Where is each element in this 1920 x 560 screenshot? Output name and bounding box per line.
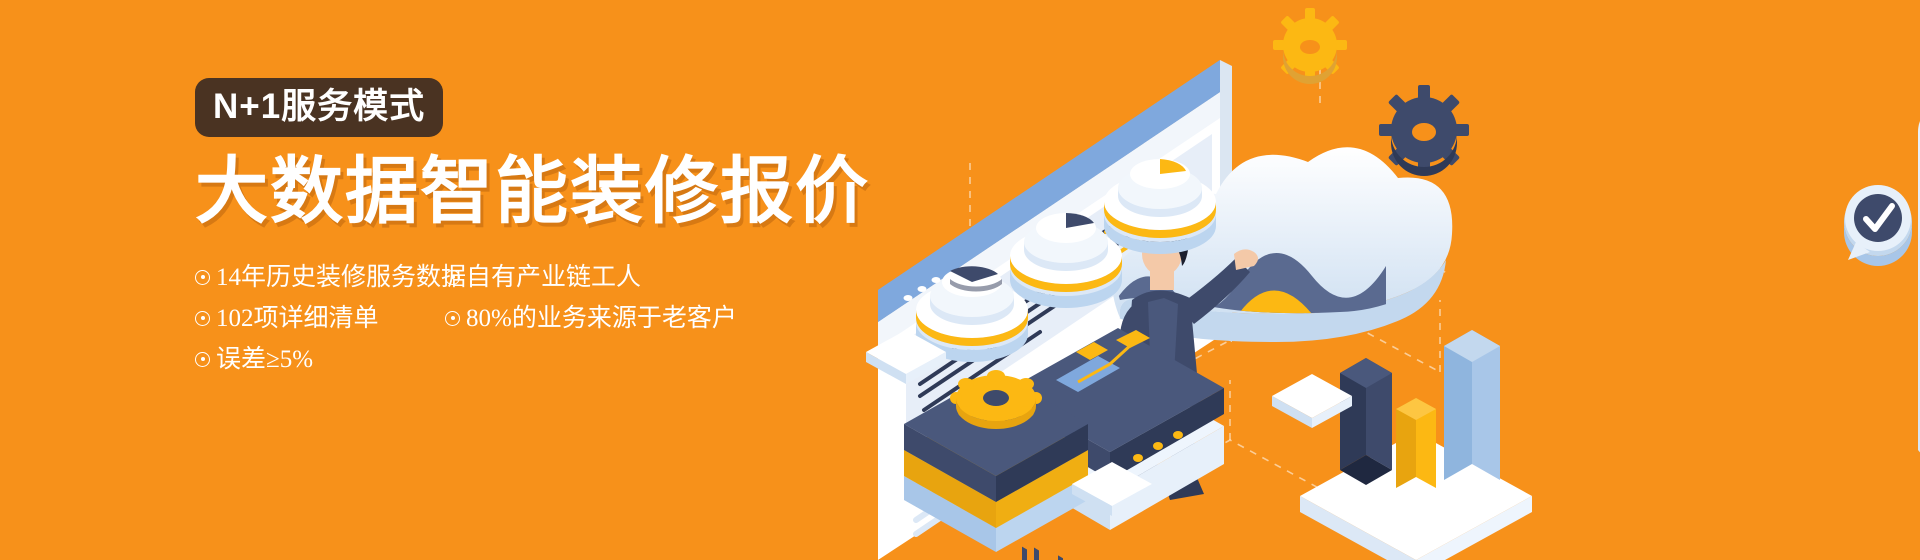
gear-navy (1379, 85, 1469, 176)
list-item-label: 误差≥5% (216, 339, 313, 380)
feature-list: 14年历史装修服务数据 102项详细清单 误差≥5% 自有产业链工人 (195, 257, 755, 380)
page-title: 大数据智能装修报价 (195, 154, 875, 231)
list-item: 80%的业务来源于老客户 (445, 298, 745, 339)
circled-dot-icon (445, 311, 460, 326)
bar-chart-3d (1300, 330, 1532, 560)
circled-dot-icon (195, 352, 210, 367)
service-model-badge: N+1服务模式 (195, 78, 443, 137)
list-item: 自有产业链工人 (445, 257, 745, 298)
circled-dot-icon (195, 311, 210, 326)
copy-block: N+1服务模式 大数据智能装修报价 14年历史装修服务数据 102项详细清单 误… (195, 78, 875, 380)
list-item-label: 80%的业务来源于老客户 (466, 298, 737, 339)
list-item-label: 自有产业链工人 (466, 257, 641, 298)
feature-column-left: 14年历史装修服务数据 102项详细清单 误差≥5% (195, 257, 445, 380)
list-item-label: 14年历史装修服务数据 (216, 257, 466, 298)
isometric-illustration (820, 0, 1920, 560)
list-item: 14年历史装修服务数据 (195, 257, 445, 298)
list-item: 误差≥5% (195, 339, 445, 380)
checkmark-badge (1844, 185, 1912, 266)
list-item: 102项详细清单 (195, 298, 445, 339)
feature-column-right: 自有产业链工人 80%的业务来源于老客户 (445, 257, 745, 380)
circled-dot-icon (445, 270, 460, 285)
circled-dot-icon (195, 270, 210, 285)
promo-banner: N+1服务模式 大数据智能装修报价 14年历史装修服务数据 102项详细清单 误… (0, 0, 1920, 560)
list-item-label: 102项详细清单 (216, 298, 379, 339)
gear-yellow (1273, 8, 1347, 84)
